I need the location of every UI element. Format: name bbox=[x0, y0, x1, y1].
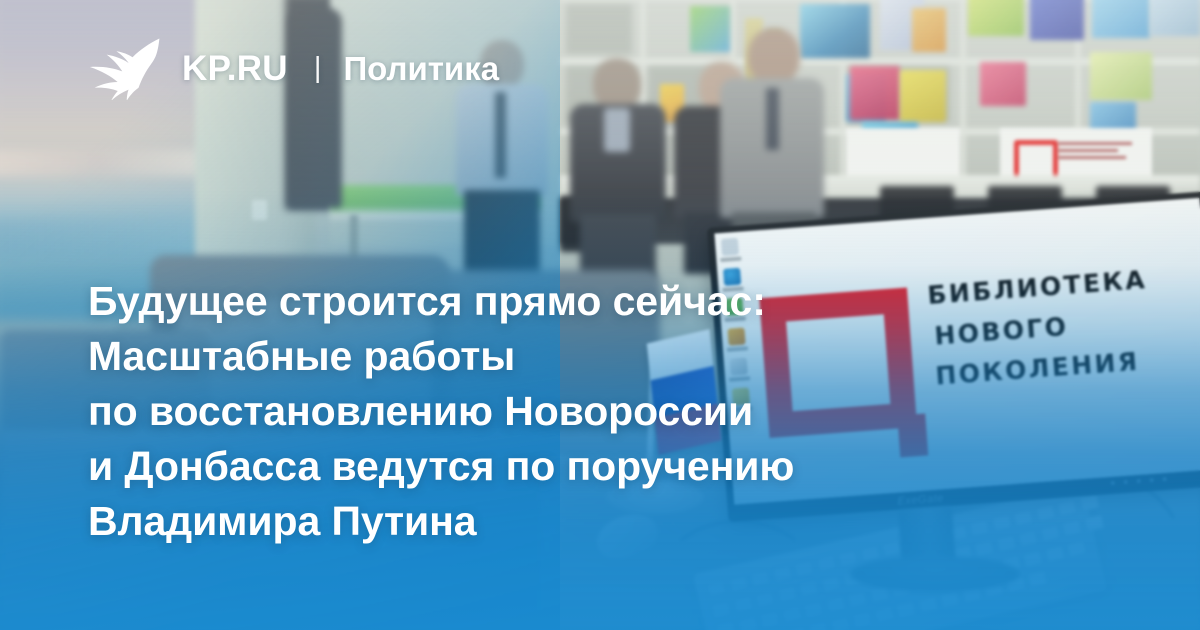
section-label[interactable]: Политика bbox=[343, 52, 499, 85]
headline: Будущее строится прямо сейчас: Масштабны… bbox=[88, 274, 1148, 549]
headline-line-5: Владимира Путина bbox=[88, 494, 1148, 549]
headline-line-3: по восстановлению Новороссии bbox=[88, 384, 1148, 439]
book-cover bbox=[1030, 0, 1084, 40]
book-cover bbox=[690, 6, 730, 52]
headline-line-2: Масштабные работы bbox=[88, 329, 1148, 384]
wall-painting-highlight bbox=[0, 150, 205, 176]
shelf-cell bbox=[566, 4, 632, 54]
desktop-icon-folder bbox=[721, 238, 739, 256]
headline-line-4: и Донбасса ведутся по поручению bbox=[88, 439, 1148, 494]
site-header: KP.RU | Политика bbox=[88, 36, 499, 100]
social-share-card: БИБЛИОТЕКА НОВОГО ПОКОЛЕНИЯ ExeGate bbox=[0, 0, 1200, 630]
wall-painting-water-band bbox=[0, 218, 205, 258]
shelf-divider bbox=[960, 0, 966, 180]
book-cover bbox=[968, 0, 1024, 36]
book-cover bbox=[1090, 52, 1152, 100]
light-switch bbox=[252, 200, 267, 220]
brand-label[interactable]: KP.RU bbox=[182, 51, 288, 86]
book-cover bbox=[1150, 0, 1200, 36]
book-cover bbox=[900, 70, 946, 122]
book-cover bbox=[1092, 0, 1150, 38]
poster-text-lines bbox=[1058, 142, 1136, 163]
book-cover bbox=[980, 62, 1026, 106]
headline-line-1: Будущее строится прямо сейчас: bbox=[88, 274, 1148, 329]
swallow-bird-logo-icon[interactable] bbox=[88, 36, 162, 100]
book-cover bbox=[800, 4, 870, 58]
book-cover bbox=[850, 66, 900, 120]
monitor-stand-base bbox=[850, 556, 1020, 592]
header-separator: | bbox=[314, 54, 322, 83]
book-cover bbox=[912, 8, 946, 52]
